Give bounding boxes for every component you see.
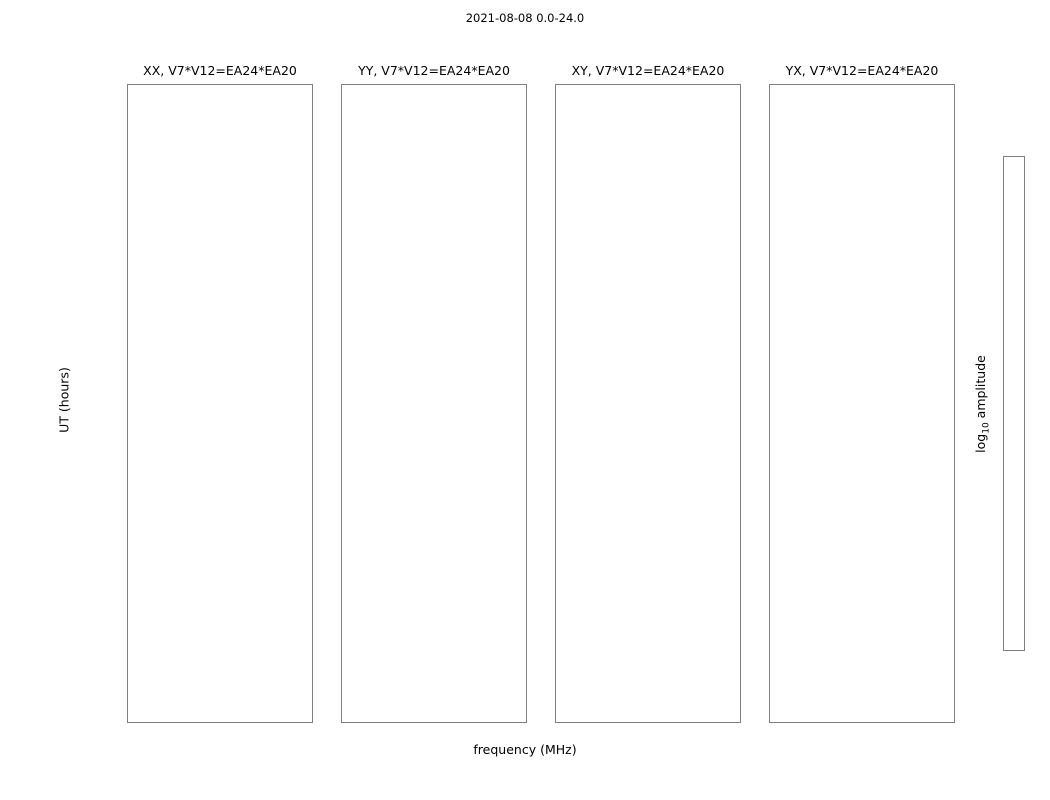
colorbar[interactable] — [1003, 156, 1025, 651]
figure-canvas: 2021-08-08 0.0-24.0 XX, V7*V12=EA24*EA20… — [0, 0, 1050, 800]
spectrogram-xx — [127, 84, 313, 723]
colorbar-label-sub: 10 — [981, 422, 991, 433]
spectrogram-yy — [341, 84, 527, 723]
colorbar-frame — [1003, 156, 1025, 651]
spectrogram-yx — [769, 84, 955, 723]
panel-title-yx: YX, V7*V12=EA24*EA20 — [769, 63, 955, 78]
figure-suptitle: 2021-08-08 0.0-24.0 — [0, 11, 1050, 25]
panel-title-yy: YY, V7*V12=EA24*EA20 — [341, 63, 527, 78]
x-axis-label: frequency (MHz) — [0, 742, 1050, 757]
panel-title-xy: XY, V7*V12=EA24*EA20 — [555, 63, 741, 78]
y-axis-label: UT (hours) — [57, 367, 72, 433]
colorbar-label-tail: amplitude — [973, 355, 988, 422]
panel-xy[interactable]: XY, V7*V12=EA24*EA20 — [555, 84, 741, 723]
panel-xx[interactable]: XX, V7*V12=EA24*EA20 — [127, 84, 313, 723]
colorbar-label: log10 amplitude — [973, 355, 992, 453]
panel-yy[interactable]: YY, V7*V12=EA24*EA20 — [341, 84, 527, 723]
colorbar-label-main: log — [973, 434, 988, 453]
panel-yx[interactable]: YX, V7*V12=EA24*EA20 — [769, 84, 955, 723]
panel-title-xx: XX, V7*V12=EA24*EA20 — [127, 63, 313, 78]
spectrogram-xy — [555, 84, 741, 723]
